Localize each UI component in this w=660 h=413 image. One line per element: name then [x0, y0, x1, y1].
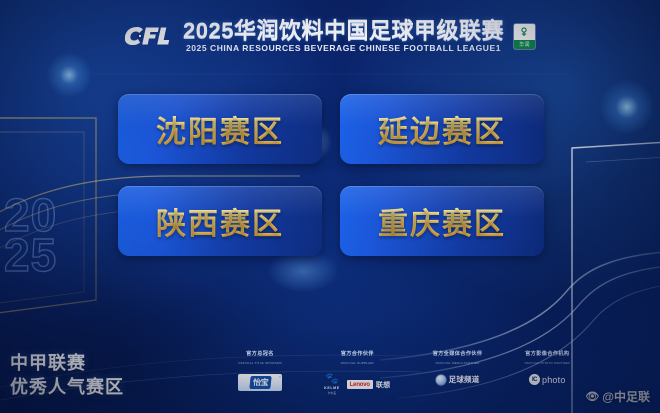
- kelme-logo-subtext: 卡尔美: [327, 391, 336, 395]
- decorative-year-bottom: 25: [4, 236, 66, 276]
- award-caption-line2: 优秀人气赛区: [10, 376, 124, 400]
- sponsor-board: 官方总冠名 OFFICIAL TITLE SPONSOR 怡宝 ® 官方合作伙伴…: [238, 350, 570, 395]
- kelme-logo-icon: 🐾 KELME 卡尔美: [324, 374, 340, 395]
- region-button-grid: 沈阳赛区 延边赛区 陕西赛区 重庆赛区: [118, 94, 544, 278]
- yibao-logo-icon: 怡宝 ®: [238, 374, 282, 391]
- icphoto-logo-mark: IC: [529, 374, 540, 385]
- sponsor-logo-list: 怡宝 ®: [238, 374, 282, 391]
- kelme-logo-text: KELME: [324, 386, 340, 390]
- sponsor-group-label-cn: 官方总冠名: [246, 350, 274, 357]
- football-icon: [436, 375, 446, 385]
- sponsor-group-label-en: OFFICIAL MEDIA PARTNER: [436, 361, 480, 365]
- region-button-label: 沈阳赛区: [156, 107, 284, 151]
- region-button-row-2: 陕西赛区 重庆赛区: [118, 186, 544, 256]
- light-flare-right: [600, 80, 654, 134]
- decorative-year: 20 25: [4, 196, 66, 275]
- lenovo-logo-text-en: Lenovo: [347, 380, 373, 389]
- icphoto-logo-text: photo: [542, 375, 566, 385]
- region-button-label: 延边赛区: [378, 107, 506, 151]
- weibo-watermark: 👁 @中足联: [585, 388, 650, 405]
- badge-label: 华润: [514, 40, 535, 49]
- region-button-label: 陕西赛区: [156, 199, 284, 243]
- lenovo-logo-icon: Lenovo 联想: [347, 380, 391, 390]
- region-button-chongqing[interactable]: 重庆赛区: [340, 186, 544, 256]
- sponsor-logo-list: 足球频道: [436, 374, 480, 385]
- badge-symbol: [514, 24, 535, 40]
- award-caption: 中甲联赛 优秀人气赛区: [10, 352, 124, 400]
- sponsor-group-partner: 官方合作伙伴 OFFICIAL SUPPLIER 🐾 KELME 卡尔美 Len…: [324, 350, 390, 395]
- region-button-yanbian[interactable]: 延边赛区: [340, 94, 544, 164]
- sponsor-logo-list: 🐾 KELME 卡尔美 Lenovo 联想: [324, 374, 390, 395]
- china-resources-badge-icon: 华润: [514, 24, 535, 49]
- poster-root: 20 25 2025华润饮料中国足球甲级联赛 2025 CHINA RESOUR…: [0, 0, 660, 413]
- sponsor-group-label-en: OFFICIAL TITLE SPONSOR: [238, 361, 282, 365]
- weibo-icon: 👁: [585, 390, 599, 403]
- sponsor-group-media: 官方全媒体合作伙伴 OFFICIAL MEDIA PARTNER 足球频道: [433, 350, 483, 385]
- sponsor-group-label-cn: 官方全媒体合作伙伴: [433, 350, 483, 357]
- sponsor-logo-list: IC photo: [529, 374, 566, 385]
- sponsor-group-label-en: OFFICIAL PHOTO PARTNER: [525, 361, 570, 365]
- cfl-logo-icon: [125, 22, 173, 50]
- award-caption-line1: 中甲联赛: [10, 352, 124, 376]
- yibao-logo-text: 怡宝: [249, 376, 271, 389]
- header-title-block: 2025华润饮料中国足球甲级联赛 2025 CHINA RESOURCES BE…: [183, 19, 504, 53]
- icphoto-logo-icon: IC photo: [529, 374, 566, 385]
- football-channel-logo-icon: 足球频道: [436, 374, 480, 385]
- header: 2025华润饮料中国足球甲级联赛 2025 CHINA RESOURCES BE…: [0, 12, 660, 60]
- lenovo-logo-text-cn: 联想: [376, 380, 391, 390]
- region-button-label: 重庆赛区: [378, 199, 506, 243]
- football-channel-logo-text: 足球频道: [449, 374, 480, 385]
- page-title-en: 2025 CHINA RESOURCES BEVERAGE CHINESE FO…: [186, 43, 501, 53]
- region-button-shenyang[interactable]: 沈阳赛区: [118, 94, 322, 164]
- sponsor-group-photo: 官方影像合作机构 OFFICIAL PHOTO PARTNER IC photo: [525, 350, 570, 385]
- badge-glyph-icon: [518, 26, 530, 38]
- weibo-handle: @中足联: [602, 388, 650, 405]
- sponsor-group-label-cn: 官方合作伙伴: [341, 350, 374, 357]
- paw-print-icon: 🐾: [325, 374, 339, 385]
- trademark-icon: ®: [279, 375, 281, 379]
- sponsor-group-label-en: OFFICIAL SUPPLIER: [341, 361, 374, 365]
- region-button-row-1: 沈阳赛区 延边赛区: [118, 94, 544, 164]
- sponsor-group-title: 官方总冠名 OFFICIAL TITLE SPONSOR 怡宝 ®: [238, 350, 282, 391]
- sponsor-group-label-cn: 官方影像合作机构: [525, 350, 569, 357]
- region-button-shaanxi[interactable]: 陕西赛区: [118, 186, 322, 256]
- page-title-cn: 2025华润饮料中国足球甲级联赛: [183, 19, 504, 42]
